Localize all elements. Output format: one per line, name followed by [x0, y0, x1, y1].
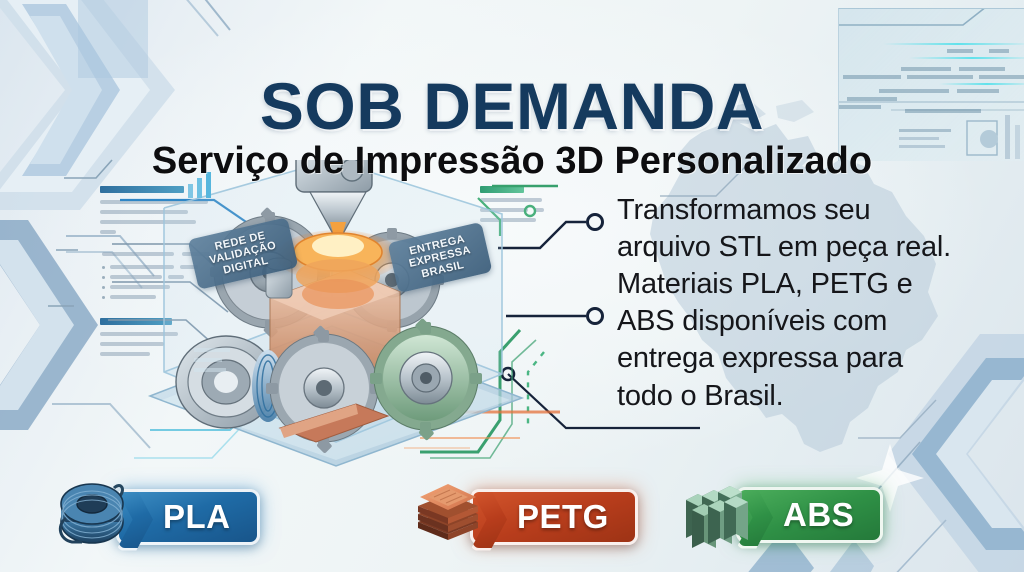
filament-spool-icon [56, 478, 132, 555]
page-subtitle: Serviço de Impressão 3D Personalizado [0, 140, 1024, 183]
page-title: SOB DEMANDA [0, 68, 1024, 144]
body-copy-line-4: ABS disponíveis com [617, 303, 1017, 340]
body-copy-line-3: Materiais PLA, PETG e [617, 266, 1017, 303]
material-label-abs: ABS [736, 487, 883, 543]
material-label-petg: PETG [470, 489, 638, 545]
body-copy: Transformamos seu arquivo STL em peça re… [617, 192, 1017, 415]
material-label-pla: PLA [116, 489, 260, 545]
material-badge-petg[interactable]: PETG [414, 478, 638, 555]
printed-layers-icon [414, 478, 486, 555]
body-copy-line-6: todo o Brasil. [617, 378, 1017, 415]
body-copy-line-1: Transformamos seu [617, 192, 1017, 229]
poster-canvas: REDE DE VALIDAÇÃO DIGITAL ENTREGA EXPRES… [0, 0, 1024, 572]
printed-blocks-icon [678, 474, 752, 555]
body-copy-line-2: arquivo STL em peça real. [617, 229, 1017, 266]
3d-printer-gearbox-illustration: REDE DE VALIDAÇÃO DIGITAL ENTREGA EXPRES… [120, 160, 550, 470]
material-badge-abs[interactable]: ABS [678, 474, 883, 555]
material-badge-pla[interactable]: PLA [56, 478, 260, 555]
body-copy-line-5: entrega expressa para [617, 340, 1017, 377]
